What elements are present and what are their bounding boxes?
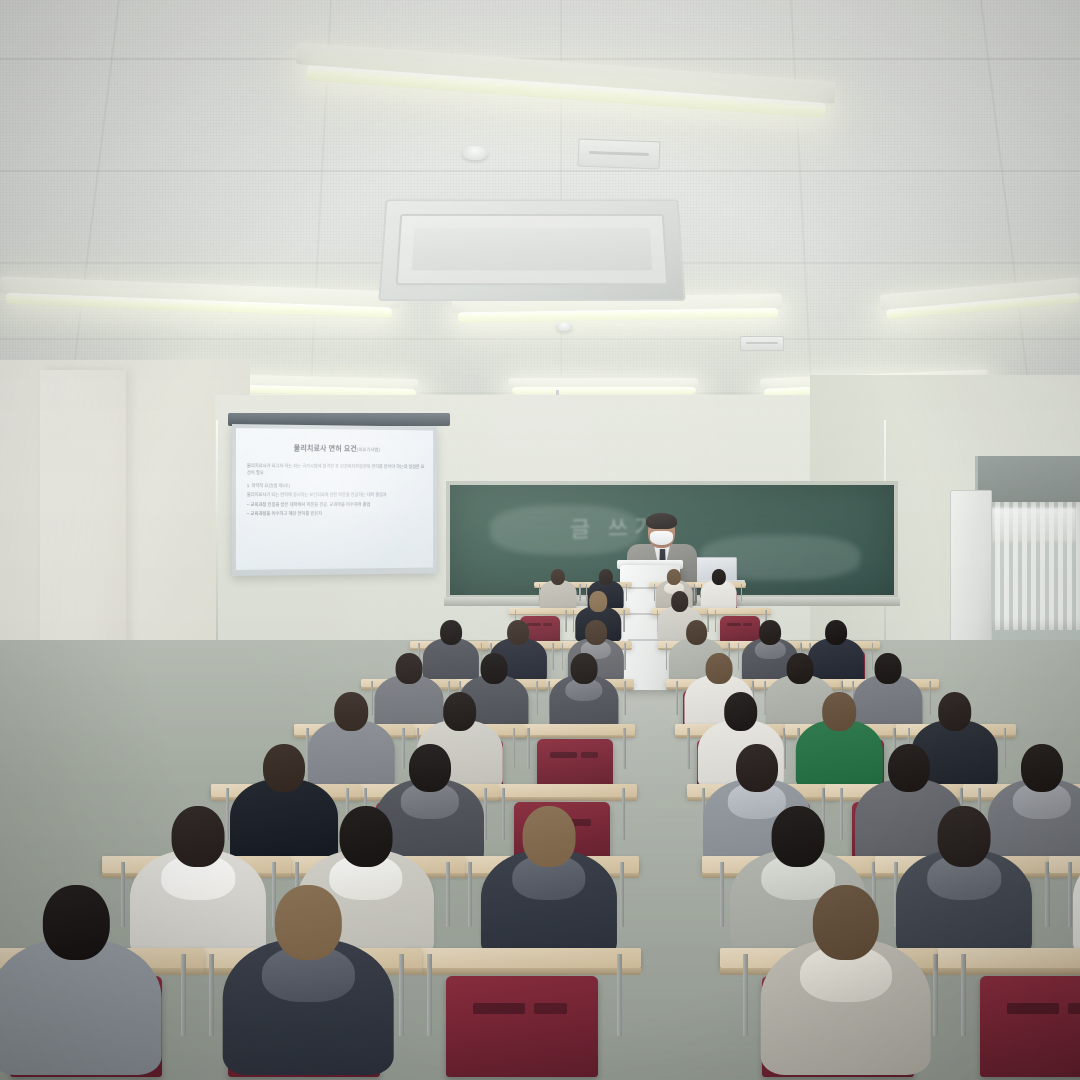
- roller-shade: [978, 456, 1080, 502]
- window-daylight: [992, 508, 1076, 542]
- seated-student: [0, 885, 162, 1080]
- desk-leg: [623, 728, 626, 770]
- desk-leg: [626, 584, 627, 602]
- chair-handle-slot: [581, 752, 598, 758]
- student-head: [440, 620, 462, 645]
- student-head: [443, 692, 477, 730]
- slide-section-label: 1. 학력적 요건(법 제4조): [247, 483, 425, 490]
- student-head: [875, 653, 902, 684]
- lecturer-hair: [646, 513, 677, 529]
- ceiling-vent: [578, 139, 661, 170]
- desk-leg: [1068, 862, 1072, 928]
- classroom-chair: [446, 976, 598, 1077]
- desk-leg: [676, 681, 678, 714]
- student-head: [812, 885, 878, 961]
- desk-leg: [620, 862, 624, 928]
- desk-leg: [666, 643, 668, 670]
- slide-bullet: – 교육과정 인증을 받은 대학에서 학문을 전공, 교과목을 이수하여 졸업: [247, 501, 425, 509]
- desk-leg: [617, 954, 622, 1036]
- desk-leg: [687, 728, 690, 770]
- student-desk: [509, 608, 572, 613]
- student-desk: [404, 948, 641, 969]
- desk-leg: [624, 643, 626, 670]
- student-head: [671, 591, 689, 611]
- student-head: [340, 806, 393, 866]
- desk-leg: [536, 681, 538, 714]
- fluorescent-tube: [512, 387, 696, 394]
- student-head: [507, 620, 529, 645]
- smoke-detector-icon: [462, 146, 488, 160]
- student-head: [263, 744, 305, 792]
- desk-edge: [404, 968, 641, 974]
- student-head: [551, 569, 565, 585]
- chair-handle-slot: [550, 752, 576, 758]
- desk-leg: [513, 728, 516, 770]
- desk-leg: [181, 954, 186, 1036]
- student-head: [938, 692, 972, 730]
- student-head: [712, 569, 726, 585]
- student-head: [772, 806, 825, 866]
- desk-leg: [209, 954, 214, 1036]
- student-head: [480, 653, 507, 684]
- ceiling-grid-line: [0, 338, 1080, 340]
- student-desk: [938, 948, 1080, 969]
- student-head: [888, 744, 930, 792]
- slide-title-main: 물리치료사 면허 요건: [294, 444, 357, 453]
- projection-screen: 물리치료사 면허 요건(의료기사법) 물리치료사가 되고자 하는 자는 국가시험…: [232, 424, 437, 576]
- desk-leg: [654, 584, 655, 602]
- classroom-chair: [537, 739, 614, 790]
- chair-handle-slot: [1007, 1003, 1059, 1014]
- smoke-detector-icon: [556, 322, 572, 331]
- desk-leg: [527, 728, 530, 770]
- ceiling-ac-cassette: [378, 199, 685, 301]
- student-head: [823, 692, 857, 730]
- wall-radiator: [950, 490, 992, 660]
- wall-seam: [216, 420, 218, 650]
- student-head: [1021, 744, 1063, 792]
- student-head: [571, 653, 598, 684]
- seated-student: [760, 885, 931, 1080]
- student-desk: [708, 608, 771, 613]
- student-head: [275, 885, 341, 961]
- ceiling-vent: [740, 336, 784, 351]
- desk-leg: [427, 954, 432, 1036]
- student-head: [706, 653, 733, 684]
- slide-paragraph: 물리치료사가 되고자 하는 자는 국가시험에 합격한 후 보건복지부장관의 면허…: [247, 462, 425, 477]
- desk-leg: [624, 681, 626, 714]
- chair-handle-slot: [727, 623, 741, 626]
- student-desk: [487, 784, 637, 797]
- student-head: [172, 806, 225, 866]
- slide-section-text: 물리치료사가 되는 면허에 응시하는 보건의료에 관한 학문을 전공하는 대학 …: [247, 492, 425, 499]
- student-head: [599, 569, 613, 585]
- desk-edge: [938, 968, 1080, 974]
- student-torso: [1073, 850, 1080, 958]
- classroom-photo: 물리치료사 면허 요건(의료기사법) 물리치료사가 되고자 하는 자는 국가시험…: [0, 0, 1080, 1080]
- desk-leg: [741, 584, 742, 602]
- slide-title: 물리치료사 면허 요건(의료기사법): [247, 443, 425, 454]
- desk-leg: [446, 862, 450, 928]
- slide-title-sub: (의료기사법): [357, 447, 380, 452]
- ac-core-panel: [412, 228, 652, 270]
- lecturer-face-mask: [650, 531, 673, 545]
- desk-leg: [720, 862, 724, 928]
- student-head: [736, 744, 778, 792]
- student-head: [43, 885, 109, 961]
- desk-leg: [399, 954, 404, 1036]
- classroom-chair: [980, 976, 1080, 1077]
- ac-inner-frame: [396, 214, 669, 285]
- desk-leg: [565, 610, 566, 632]
- chair-handle-slot: [1068, 1003, 1080, 1014]
- student-head: [686, 620, 708, 645]
- student-desk: [515, 724, 635, 734]
- student-head: [523, 806, 576, 866]
- slide-surface: 물리치료사 면허 요건(의료기사법) 물리치료사가 되고자 하는 자는 국가시험…: [236, 428, 433, 570]
- desk-edge: [515, 735, 635, 738]
- student-head: [759, 620, 781, 645]
- chair-handle-slot: [534, 1003, 567, 1014]
- student-head: [409, 744, 451, 792]
- desk-edge: [487, 797, 637, 801]
- student-head: [938, 806, 991, 866]
- desk-leg: [468, 862, 472, 928]
- chair-handle-slot: [473, 1003, 525, 1014]
- slide-bullet: – 교육과정을 이수하고 해당 면허를 받은자: [247, 509, 425, 517]
- student-head: [589, 591, 607, 611]
- desk-leg: [961, 954, 966, 1036]
- student-head: [335, 692, 369, 730]
- ceiling-grid-line: [0, 170, 1080, 172]
- student-head: [724, 692, 758, 730]
- student-head: [585, 620, 607, 645]
- student-head: [396, 653, 423, 684]
- chalkboard-writing: 글 쓰기: [570, 510, 661, 544]
- student-head: [667, 569, 681, 585]
- seated-student: [223, 885, 394, 1080]
- desk-leg: [622, 788, 625, 840]
- student-torso: [540, 580, 577, 609]
- student-torso: [700, 580, 737, 609]
- student-head: [786, 653, 813, 684]
- student-head: [825, 620, 847, 645]
- desk-leg: [743, 954, 748, 1036]
